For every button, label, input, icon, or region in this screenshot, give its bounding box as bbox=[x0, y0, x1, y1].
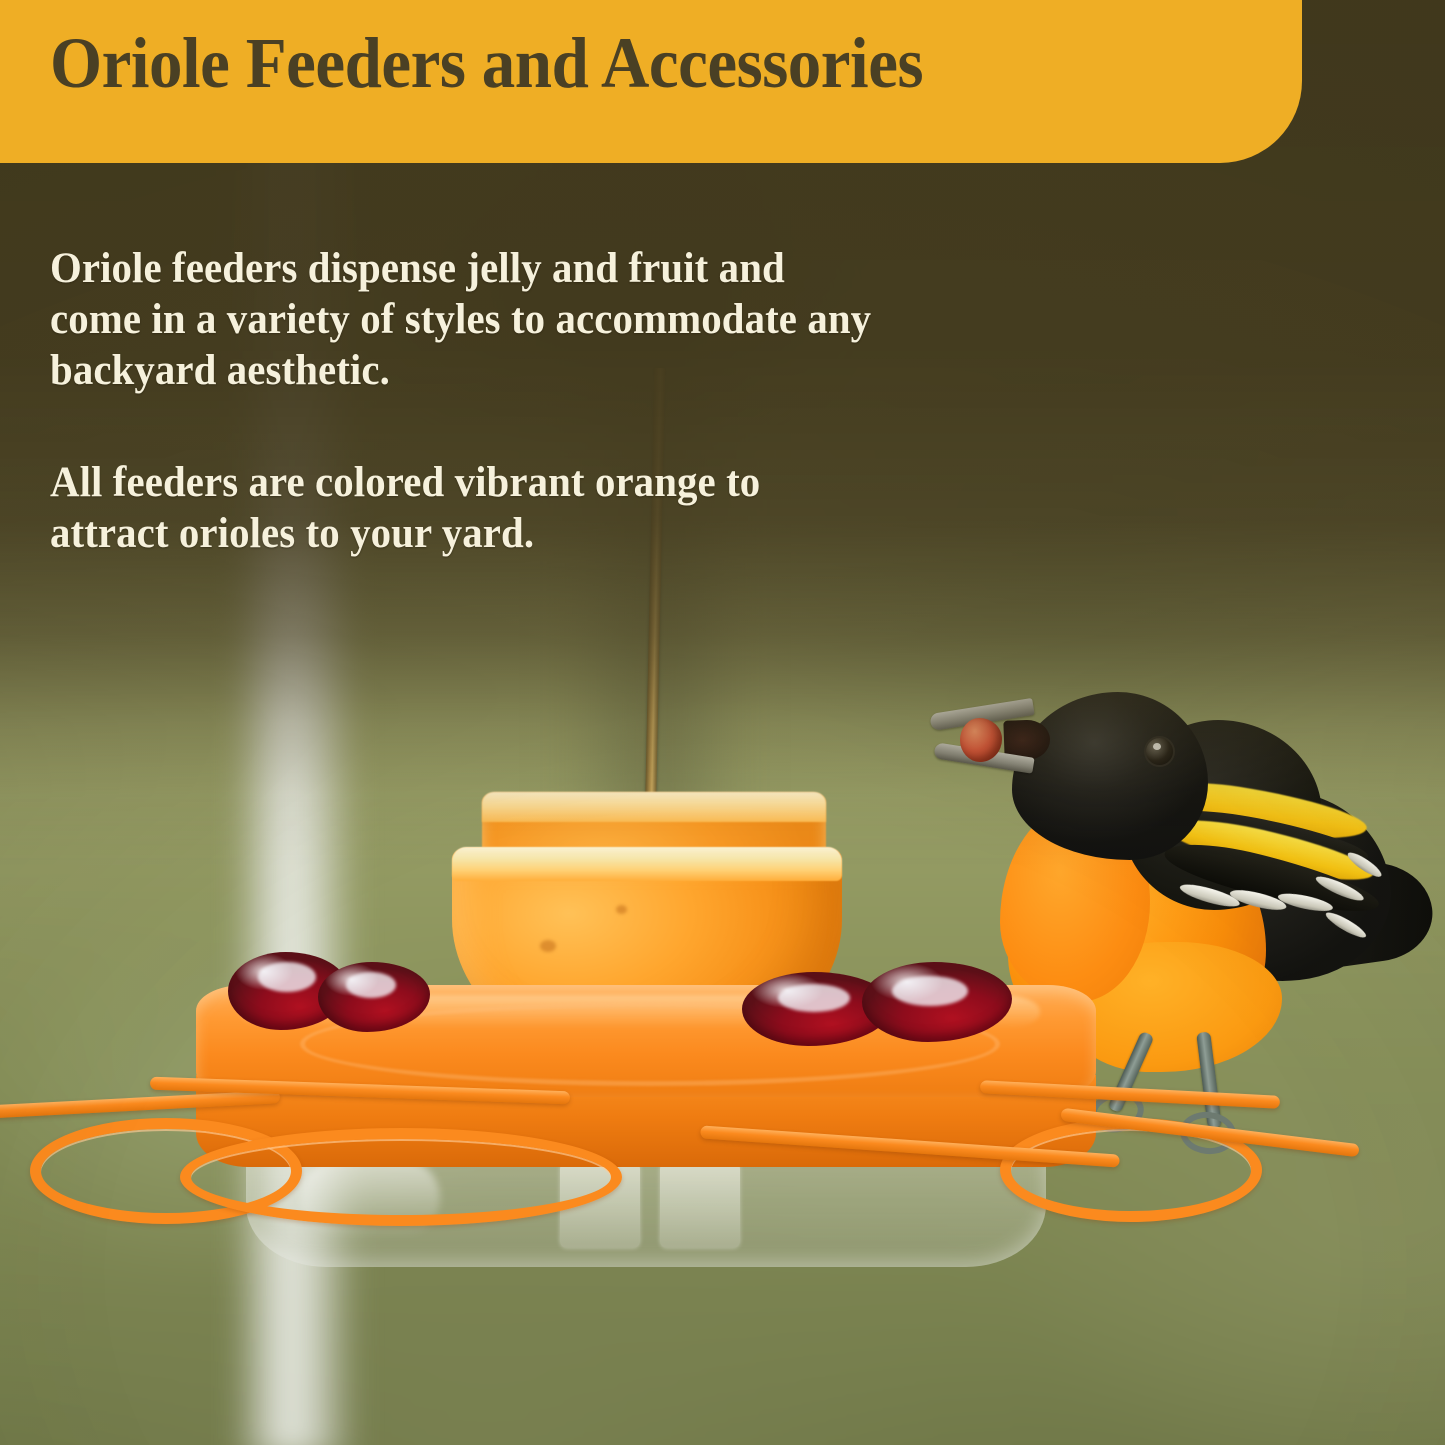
header-banner: Oriole Feeders and Accessories bbox=[0, 0, 1302, 163]
page-title: Oriole Feeders and Accessories bbox=[50, 27, 923, 99]
infographic-page: Oriole Feeders and Accessories Oriole fe… bbox=[0, 0, 1445, 1445]
feeder-photograph bbox=[0, 0, 1445, 1445]
intro-copy: Oriole feeders dispense jelly and fruit … bbox=[50, 243, 930, 559]
photo-vignette bbox=[0, 0, 1445, 1445]
paragraph-1: Oriole feeders dispense jelly and fruit … bbox=[50, 243, 886, 396]
paragraph-2: All feeders are colored vibrant orange t… bbox=[50, 457, 886, 559]
